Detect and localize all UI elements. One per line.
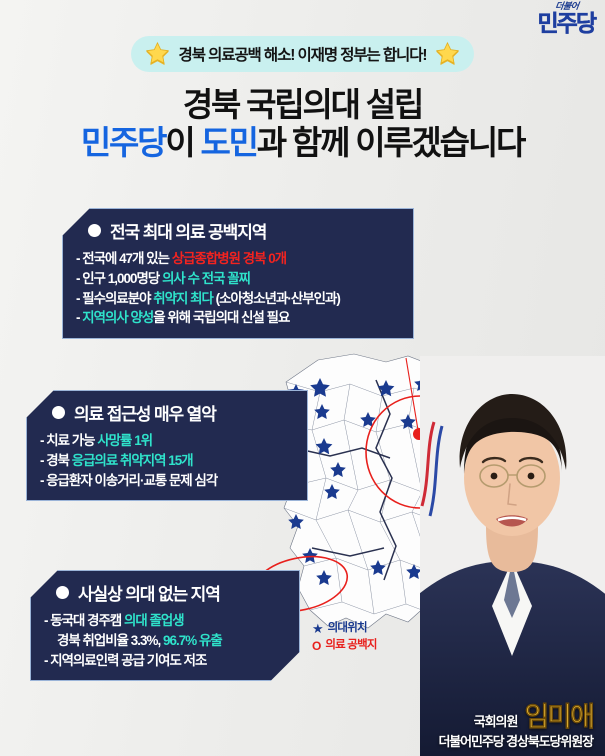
legend-row-medical-school: ★ 의대위치: [312, 620, 377, 638]
bullet-highlight-teal: 의대 졸업생: [124, 613, 184, 628]
map-legend: ★ 의대위치 O 의료 공백지: [312, 620, 377, 654]
list-item: - 지역의료인력 공급 기여도 저조: [44, 651, 286, 671]
poster-root: 더불어 민주당 경북 의료공백 해소! 이재명 정부는 합니다! 경북 국립의대…: [0, 0, 605, 756]
party-logo: 더불어 민주당: [538, 2, 595, 35]
bullet-highlight-teal: 96.7% 유출: [163, 633, 222, 648]
legend-label-gap-area: 의료 공백지: [325, 638, 376, 654]
info-box-2-list: - 치료 가능 사망률 1위 - 경북 응급의료 취약지역 15개 - 응급환자…: [40, 431, 294, 490]
list-item: - 필수의료분야 취약지 최다 (소아청소년과·산부인과): [76, 289, 400, 309]
legend-row-gap-area: O 의료 공백지: [312, 638, 377, 654]
bullet-highlight-teal: 지역의사 양성: [82, 310, 153, 325]
bullet-dot-icon: [52, 406, 65, 419]
signature-role: 국회의원: [474, 715, 518, 730]
list-item: 경북 취업비율 3.3%, 96.7% 유출: [44, 631, 286, 651]
bullet-text: 경북 취업비율 3.3%,: [44, 633, 163, 648]
headline-line-2: 민주당이 도민과 함께 이루겠습니다: [0, 126, 605, 161]
legend-label-medical-school: 의대위치: [328, 621, 367, 637]
bullet-highlight-teal: 사망률 1위: [97, 433, 152, 448]
bullet-highlight-red: 상급종합병원 경북 0개: [172, 251, 286, 266]
info-box-1-list: - 전국에 47개 있는 상급종합병원 경북 0개 - 인구 1,000명당 의…: [76, 249, 400, 328]
list-item: - 동국대 경주캠 의대 졸업생: [44, 611, 286, 631]
bullet-text: - 치료 가능: [40, 433, 97, 448]
star-icon-left: [145, 41, 170, 66]
signature-row-1: 국회의원 임미애: [438, 702, 593, 733]
bullet-highlight-teal: 취약지 최다: [153, 291, 213, 306]
headline-accent-party: 민주당: [81, 124, 165, 161]
info-box-1: 전국 최대 의료 공백지역 - 전국에 47개 있는 상급종합병원 경북 0개 …: [62, 208, 414, 339]
headline-line-1: 경북 국립의대 설립: [0, 88, 605, 123]
info-box-2: 의료 접근성 매우 열악 - 치료 가능 사망률 1위 - 경북 응급의료 취약…: [26, 390, 308, 501]
signature-name: 임미애: [524, 702, 593, 733]
bullet-text-tail: 을 위해 국립의대 신설 필요: [153, 310, 289, 325]
info-box-3-list: - 동국대 경주캠 의대 졸업생 경북 취업비율 3.3%, 96.7% 유출 …: [44, 611, 286, 670]
signature-org: 더불어민주당 경상북도당위원장: [438, 735, 593, 750]
info-box-1-title: 전국 최대 의료 공백지역: [76, 218, 400, 243]
page-title: 경북 국립의대 설립 민주당이 도민과 함께 이루겠습니다: [0, 88, 605, 161]
bullet-dot-icon: [56, 586, 69, 599]
bullet-dot-icon: [88, 224, 101, 237]
bullet-highlight-teal: 의사 수 전국 꼴찌: [162, 271, 250, 286]
top-banner: 경북 의료공백 해소! 이재명 정부는 합니다!: [131, 36, 475, 72]
bullet-text: - 응급환자 이송거리·교통 문제 심각: [40, 473, 217, 488]
banner-wrap: 경북 의료공백 해소! 이재명 정부는 합니다!: [0, 36, 605, 72]
info-box-2-title-text: 의료 접근성 매우 열악: [74, 400, 216, 425]
bullet-text: - 경북: [40, 453, 72, 468]
list-item: - 치료 가능 사망률 1위: [40, 431, 294, 451]
bullet-text: - 필수의료분야: [76, 291, 153, 306]
party-logo-main: 민주당: [538, 12, 595, 35]
list-item: - 경북 응급의료 취약지역 15개: [40, 451, 294, 471]
bullet-text: - 지역의료인력 공급 기여도 저조: [44, 653, 206, 668]
star-icon-right: [435, 41, 460, 66]
info-box-3: 사실상 의대 없는 지역 - 동국대 경주캠 의대 졸업생 경북 취업비율 3.…: [30, 570, 300, 681]
list-item: - 전국에 47개 있는 상급종합병원 경북 0개: [76, 249, 400, 269]
info-box-2-title: 의료 접근성 매우 열악: [40, 400, 294, 425]
star-icon: ★: [312, 620, 324, 638]
headline-line2-a: 이: [165, 124, 200, 161]
bullet-text: - 동국대 경주캠: [44, 613, 124, 628]
info-box-3-title: 사실상 의대 없는 지역: [44, 580, 286, 605]
candidate-portrait: [420, 356, 605, 756]
banner-text: 경북 의료공백 해소! 이재명 정부는 합니다!: [179, 43, 427, 65]
headline-accent-residents: 도민: [200, 124, 256, 161]
circle-outline-icon: O: [312, 638, 321, 654]
list-item: - 인구 1,000명당 의사 수 전국 꼴찌: [76, 269, 400, 289]
info-box-1-title-text: 전국 최대 의료 공백지역: [110, 218, 266, 243]
bullet-text: - 전국에 47개 있는: [76, 251, 172, 266]
candidate-signature: 국회의원 임미애 더불어민주당 경상북도당위원장: [438, 702, 593, 750]
bullet-text: - 인구 1,000명당: [76, 271, 162, 286]
list-item: - 응급환자 이송거리·교통 문제 심각: [40, 471, 294, 491]
bullet-text-tail: (소아청소년과·산부인과): [213, 291, 340, 306]
info-box-3-title-text: 사실상 의대 없는 지역: [78, 580, 220, 605]
party-logo-sub: 더불어: [537, 2, 596, 11]
headline-line2-b: 과 함께 이루겠습니다: [257, 124, 524, 161]
list-item: - 지역의사 양성을 위해 국립의대 신설 필요: [76, 308, 400, 328]
bullet-highlight-teal: 응급의료 취약지역 15개: [72, 453, 193, 468]
